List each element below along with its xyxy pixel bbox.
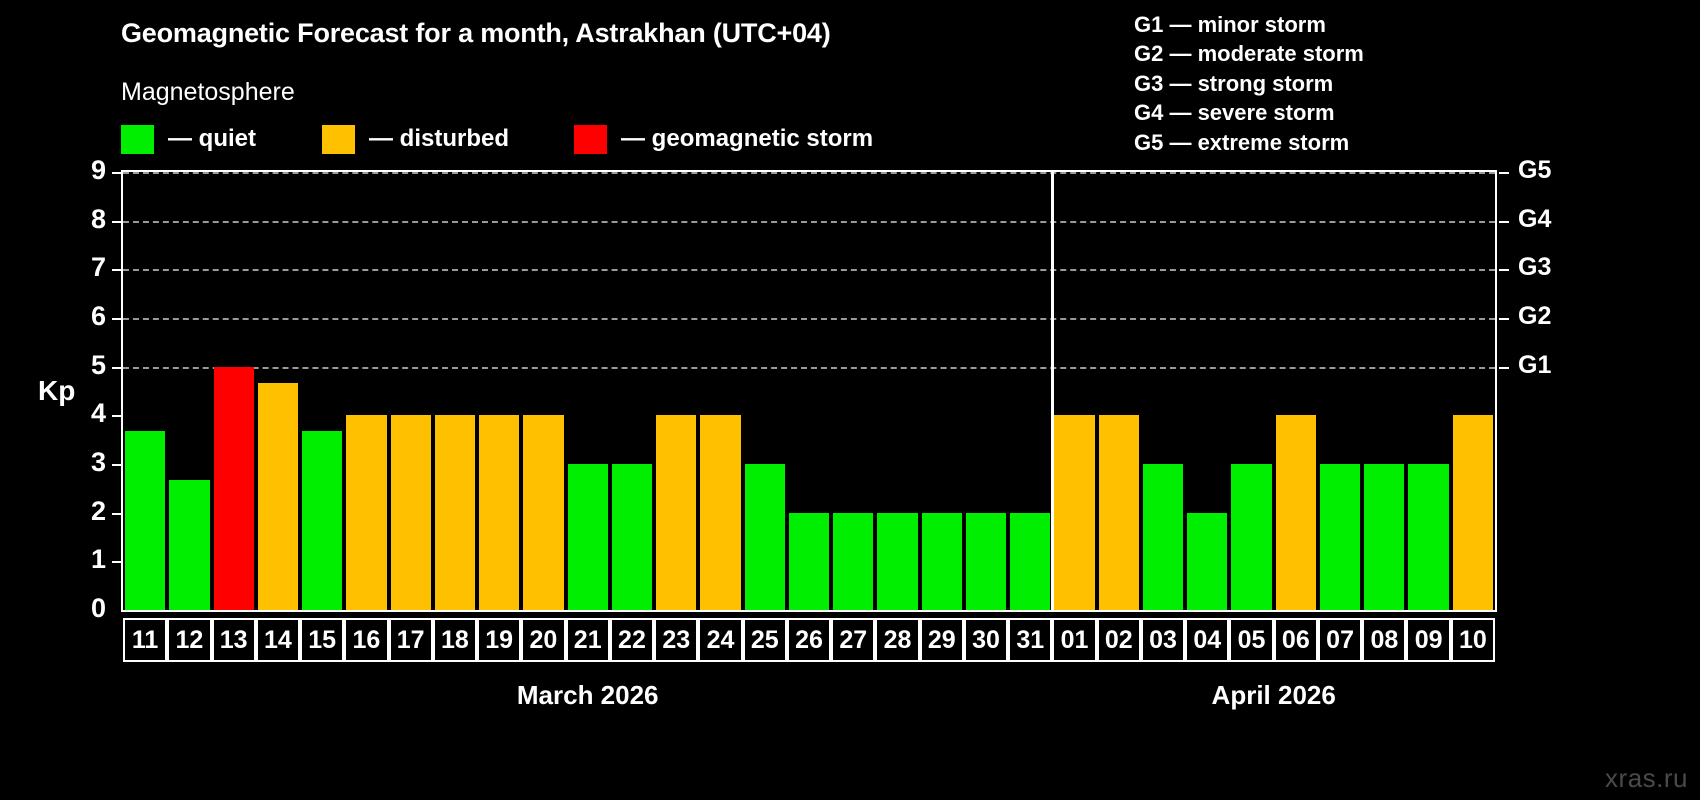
month-label-april: April 2026 <box>1212 680 1336 711</box>
y-tick-label-9: 9 <box>66 157 106 184</box>
legend-item-disturbed: — disturbed <box>322 123 509 155</box>
legend: — quiet — disturbed — geomagnetic storm <box>121 123 873 155</box>
bar-day-06[interactable] <box>1276 415 1316 610</box>
g-scale-line-g4: G4 — severe storm <box>1134 98 1364 127</box>
g-tick-mark-g3 <box>1499 269 1509 271</box>
date-label-17[interactable]: 17 <box>389 618 433 662</box>
date-label-30[interactable]: 30 <box>964 618 1008 662</box>
bar-day-02[interactable] <box>1099 415 1139 610</box>
red-square-icon <box>574 125 607 154</box>
g-tick-label-g1: G1 <box>1518 353 1551 378</box>
g-tick-mark-g2 <box>1499 318 1509 320</box>
g-tick-mark-g5 <box>1499 172 1509 174</box>
date-label-13[interactable]: 13 <box>212 618 256 662</box>
watermark: xras.ru <box>1605 763 1688 794</box>
magnetosphere-label: Magnetosphere <box>121 78 295 107</box>
bar-day-19[interactable] <box>479 415 519 610</box>
bar-day-27[interactable] <box>833 513 873 610</box>
y-tick-mark-5 <box>112 367 121 369</box>
date-label-04[interactable]: 04 <box>1185 618 1229 662</box>
bar-day-26[interactable] <box>789 513 829 610</box>
date-label-22[interactable]: 22 <box>610 618 654 662</box>
date-label-06[interactable]: 06 <box>1274 618 1318 662</box>
bar-day-11[interactable] <box>125 431 165 610</box>
g-scale-legend: G1 — minor storm G2 — moderate storm G3 … <box>1134 10 1364 157</box>
y-tick-label-3: 3 <box>66 449 106 476</box>
g-tick-label-g5: G5 <box>1518 158 1551 183</box>
date-label-10[interactable]: 10 <box>1451 618 1495 662</box>
date-label-05[interactable]: 05 <box>1229 618 1273 662</box>
date-label-08[interactable]: 08 <box>1362 618 1406 662</box>
bar-day-08[interactable] <box>1364 464 1404 610</box>
chart-plot-area <box>121 170 1497 612</box>
y-tick-label-8: 8 <box>66 206 106 233</box>
y-tick-mark-6 <box>112 318 121 320</box>
bar-day-31[interactable] <box>1010 513 1050 610</box>
g-tick-label-g3: G3 <box>1518 255 1551 280</box>
date-label-01[interactable]: 01 <box>1052 618 1096 662</box>
bar-day-01[interactable] <box>1054 415 1094 610</box>
y-tick-mark-3 <box>112 464 121 466</box>
y-tick-mark-1 <box>112 561 121 563</box>
date-label-31[interactable]: 31 <box>1008 618 1052 662</box>
bar-day-17[interactable] <box>391 415 431 610</box>
date-label-23[interactable]: 23 <box>654 618 698 662</box>
date-label-20[interactable]: 20 <box>521 618 565 662</box>
date-label-14[interactable]: 14 <box>256 618 300 662</box>
bar-day-05[interactable] <box>1231 464 1271 610</box>
date-label-12[interactable]: 12 <box>167 618 211 662</box>
y-tick-mark-4 <box>112 415 121 417</box>
legend-item-quiet: — quiet <box>121 123 256 155</box>
g-scale-line-g1: G1 — minor storm <box>1134 10 1364 39</box>
bar-day-13[interactable] <box>214 367 254 610</box>
month-label-march: March 2026 <box>517 680 659 711</box>
date-label-27[interactable]: 27 <box>831 618 875 662</box>
bar-day-03[interactable] <box>1143 464 1183 610</box>
bar-day-12[interactable] <box>169 480 209 610</box>
bar-day-30[interactable] <box>966 513 1006 610</box>
date-label-18[interactable]: 18 <box>433 618 477 662</box>
date-label-19[interactable]: 19 <box>477 618 521 662</box>
date-label-25[interactable]: 25 <box>743 618 787 662</box>
bar-day-15[interactable] <box>302 431 342 610</box>
y-tick-mark-2 <box>112 513 121 515</box>
date-label-07[interactable]: 07 <box>1318 618 1362 662</box>
y-tick-label-4: 4 <box>66 400 106 427</box>
bar-day-29[interactable] <box>922 513 962 610</box>
bar-day-16[interactable] <box>346 415 386 610</box>
y-tick-label-6: 6 <box>66 303 106 330</box>
y-tick-mark-7 <box>112 269 121 271</box>
bar-day-20[interactable] <box>523 415 563 610</box>
date-label-26[interactable]: 26 <box>787 618 831 662</box>
legend-item-storm: — geomagnetic storm <box>574 123 873 155</box>
date-label-28[interactable]: 28 <box>875 618 919 662</box>
bar-day-07[interactable] <box>1320 464 1360 610</box>
bar-day-22[interactable] <box>612 464 652 610</box>
bar-day-10[interactable] <box>1453 415 1493 610</box>
date-label-11[interactable]: 11 <box>123 618 167 662</box>
date-label-09[interactable]: 09 <box>1406 618 1450 662</box>
bar-day-24[interactable] <box>700 415 740 610</box>
bar-day-25[interactable] <box>745 464 785 610</box>
g-tick-mark-g4 <box>1499 221 1509 223</box>
bars-container <box>123 172 1495 610</box>
bar-day-21[interactable] <box>568 464 608 610</box>
g-tick-label-g2: G2 <box>1518 304 1551 329</box>
y-tick-label-5: 5 <box>66 352 106 379</box>
y-tick-label-0: 0 <box>66 595 106 622</box>
date-label-03[interactable]: 03 <box>1141 618 1185 662</box>
y-tick-mark-9 <box>112 172 121 174</box>
bar-day-14[interactable] <box>258 383 298 610</box>
legend-item-quiet-label: — quiet <box>168 125 256 153</box>
date-label-02[interactable]: 02 <box>1097 618 1141 662</box>
bar-day-04[interactable] <box>1187 513 1227 610</box>
date-axis: 1112131415161718192021222324252627282930… <box>121 618 1497 662</box>
date-label-29[interactable]: 29 <box>920 618 964 662</box>
y-tick-label-7: 7 <box>66 254 106 281</box>
g-tick-label-g4: G4 <box>1518 207 1551 232</box>
bar-day-23[interactable] <box>656 415 696 610</box>
legend-item-disturbed-label: — disturbed <box>369 125 509 153</box>
date-label-21[interactable]: 21 <box>566 618 610 662</box>
bar-day-09[interactable] <box>1408 464 1448 610</box>
green-square-icon <box>121 125 154 154</box>
orange-square-icon <box>322 125 355 154</box>
bar-day-18[interactable] <box>435 415 475 610</box>
y-tick-label-1: 1 <box>66 546 106 573</box>
date-label-15[interactable]: 15 <box>300 618 344 662</box>
g-scale-line-g5: G5 — extreme storm <box>1134 128 1364 157</box>
date-label-16[interactable]: 16 <box>344 618 388 662</box>
bar-day-28[interactable] <box>877 513 917 610</box>
legend-item-storm-label: — geomagnetic storm <box>621 125 873 153</box>
g-tick-mark-g1 <box>1499 367 1509 369</box>
g-scale-line-g3: G3 — strong storm <box>1134 69 1364 98</box>
g-scale-line-g2: G2 — moderate storm <box>1134 39 1364 68</box>
date-label-24[interactable]: 24 <box>698 618 742 662</box>
y-tick-mark-8 <box>112 221 121 223</box>
month-divider <box>1051 172 1054 610</box>
y-tick-label-2: 2 <box>66 498 106 525</box>
page-title: Geomagnetic Forecast for a month, Astrak… <box>121 18 831 49</box>
